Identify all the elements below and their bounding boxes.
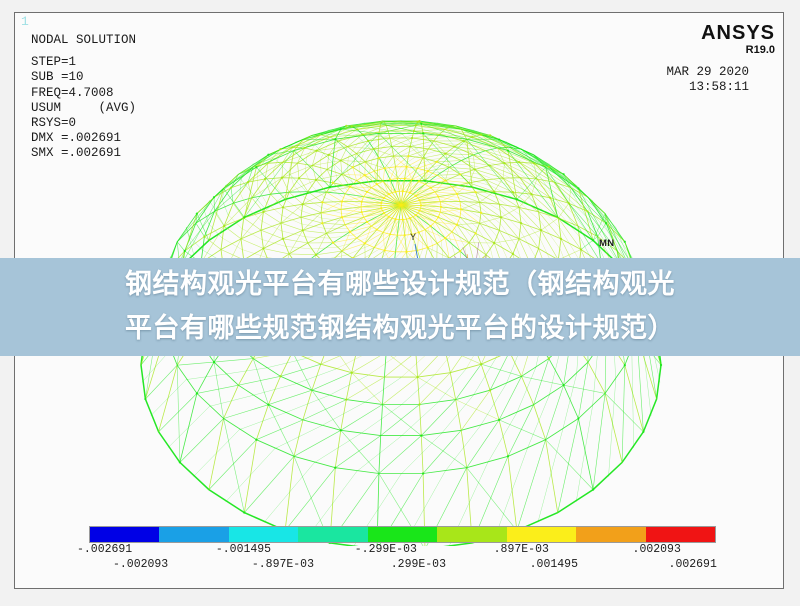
mesh-node xyxy=(562,384,564,386)
mesh-member xyxy=(299,178,308,192)
mesh-member xyxy=(383,405,422,436)
mesh-node xyxy=(243,216,245,218)
mesh-node xyxy=(380,207,382,209)
mesh-node xyxy=(361,211,363,213)
mesh-member xyxy=(494,239,519,243)
mesh-node xyxy=(660,364,662,366)
mesh-member xyxy=(321,213,342,217)
mesh-member xyxy=(522,155,560,177)
mesh-node xyxy=(281,177,283,179)
mesh-member xyxy=(420,373,451,405)
mesh-member xyxy=(262,239,286,246)
mesh-node xyxy=(498,419,500,421)
mesh-member xyxy=(508,405,534,457)
mesh-node xyxy=(418,209,420,211)
mesh-member xyxy=(455,228,465,247)
mesh-node xyxy=(389,233,391,235)
legend-color-bar xyxy=(89,526,716,543)
mesh-member xyxy=(343,198,361,205)
mesh-member xyxy=(622,365,625,462)
mesh-node xyxy=(267,404,269,406)
mesh-node xyxy=(213,361,215,363)
mesh-member xyxy=(296,369,336,384)
mesh-node xyxy=(462,140,464,142)
mesh-node xyxy=(264,178,266,180)
mesh-node xyxy=(471,136,473,138)
mesh-node xyxy=(444,152,446,154)
mesh-member xyxy=(461,390,490,430)
mesh-node xyxy=(507,149,509,151)
mesh-node xyxy=(383,167,385,169)
mesh-member xyxy=(303,400,346,420)
axis-label-y: Y xyxy=(410,232,416,242)
mesh-node xyxy=(409,217,411,219)
mesh-node xyxy=(459,173,461,175)
mesh-member xyxy=(225,177,239,185)
legend-label-top-3: .897E-03 xyxy=(494,543,549,556)
mesh-node xyxy=(196,212,198,214)
mesh-member xyxy=(303,230,327,233)
mesh-ring xyxy=(321,156,481,269)
mesh-member xyxy=(441,178,464,179)
watermark-banner: 钢结构观光平台有哪些设计规范（钢结构观光 平台有哪些规范钢结构观光平台的设计规范… xyxy=(0,258,800,356)
mesh-node xyxy=(407,155,409,157)
mesh-rib xyxy=(401,205,425,546)
mesh-member xyxy=(151,380,186,416)
mesh-node xyxy=(474,191,476,193)
mesh-node xyxy=(404,177,406,179)
mesh-member xyxy=(473,358,496,395)
mesh-node xyxy=(383,197,385,199)
mesh-member xyxy=(374,149,394,156)
mesh-node xyxy=(474,168,476,170)
mesh-node xyxy=(303,147,305,149)
mesh-node xyxy=(409,192,411,194)
mesh-member xyxy=(239,413,285,430)
mesh-node xyxy=(436,161,438,163)
mesh-node xyxy=(512,191,514,193)
legend-band-8 xyxy=(646,527,715,542)
mesh-member xyxy=(303,213,321,231)
mesh-member xyxy=(446,154,474,155)
mesh-node xyxy=(533,162,535,164)
mesh-member xyxy=(177,365,180,462)
mesh-node xyxy=(456,224,458,226)
mesh-member xyxy=(329,375,368,395)
mesh-node xyxy=(315,150,317,152)
mesh-node xyxy=(530,193,532,195)
mesh-member xyxy=(449,167,475,169)
mesh-member xyxy=(353,228,374,235)
mesh-member xyxy=(408,149,428,156)
mesh-member xyxy=(357,230,377,239)
mesh-member xyxy=(263,223,281,248)
legend-label-bottom-2: .299E-03 xyxy=(391,558,446,571)
mesh-member xyxy=(456,400,499,420)
mesh-node xyxy=(255,166,257,168)
mesh-node xyxy=(580,248,582,250)
mesh-node xyxy=(321,222,323,224)
legend-label-top-4: .002093 xyxy=(633,543,681,556)
mesh-member xyxy=(478,228,491,249)
mesh-node xyxy=(512,253,514,255)
mesh-member xyxy=(301,224,324,228)
mesh-node xyxy=(345,398,347,400)
mesh-member xyxy=(428,147,454,149)
mesh-member xyxy=(532,194,559,218)
legend-label-top-0: -.002691 xyxy=(77,543,132,556)
mesh-node xyxy=(361,201,363,203)
mesh-node xyxy=(334,138,336,140)
legend-label-bottom-4: .002691 xyxy=(669,558,717,571)
mesh-member xyxy=(186,374,225,380)
mesh-member xyxy=(546,385,564,440)
mesh-member xyxy=(194,430,240,477)
mesh-node xyxy=(493,242,495,244)
mesh-member xyxy=(383,168,384,181)
mesh-node xyxy=(184,250,186,252)
mesh-member xyxy=(445,181,469,183)
mesh-node xyxy=(349,186,351,188)
mesh-member xyxy=(197,214,209,241)
legend-label-bottom-3: .001495 xyxy=(530,558,578,571)
mesh-member xyxy=(268,390,312,405)
mesh-node xyxy=(389,178,391,180)
mesh-node xyxy=(420,434,422,436)
mesh-member xyxy=(265,179,271,194)
mesh-node xyxy=(247,181,249,183)
mesh-node xyxy=(366,221,368,223)
mesh-member xyxy=(488,413,517,463)
mesh-member xyxy=(435,192,457,194)
mesh-node xyxy=(489,164,491,166)
mesh-member xyxy=(241,239,263,249)
mesh-member xyxy=(538,430,563,523)
mesh-node xyxy=(291,146,293,148)
mesh-member xyxy=(379,436,421,474)
mesh-node xyxy=(404,234,406,236)
legend-label-top-1: -.001495 xyxy=(216,543,271,556)
mesh-node xyxy=(480,134,482,136)
mesh-member xyxy=(481,384,507,426)
mesh-member xyxy=(499,420,545,440)
mesh-node xyxy=(549,197,551,199)
mesh-member xyxy=(352,373,383,405)
mesh-node xyxy=(345,125,347,127)
mesh-member xyxy=(282,162,283,178)
mesh-member xyxy=(197,385,239,393)
legend-band-6 xyxy=(507,527,576,542)
mesh-node xyxy=(474,232,476,234)
mesh-member xyxy=(242,228,262,239)
mesh-member xyxy=(222,199,228,214)
mesh-member xyxy=(282,215,302,224)
mesh-node xyxy=(586,210,588,212)
mesh-node xyxy=(405,251,407,253)
mesh-node xyxy=(394,191,396,193)
mesh-node xyxy=(427,246,429,248)
legend-band-4 xyxy=(368,527,437,542)
mesh-member xyxy=(168,406,209,447)
legend-label-bottom-0: -.002093 xyxy=(113,558,168,571)
mesh-member xyxy=(361,178,370,190)
mesh-node xyxy=(592,488,594,490)
mesh-node xyxy=(262,247,264,249)
mesh-node xyxy=(279,375,281,377)
mesh-node xyxy=(383,249,385,251)
mesh-member xyxy=(335,436,380,468)
mesh-node xyxy=(418,180,420,182)
mesh-member xyxy=(244,456,294,512)
mesh-node xyxy=(429,225,431,227)
mesh-node xyxy=(388,193,390,195)
mesh-member xyxy=(485,151,519,163)
mesh-member xyxy=(314,434,360,463)
mesh-member xyxy=(361,207,381,208)
watermark-text: 钢结构观光平台有哪些设计规范（钢结构观光 平台有哪些规范钢结构观光平台的设计规范… xyxy=(35,263,765,351)
mesh-member xyxy=(244,218,261,230)
mesh-node xyxy=(203,235,205,237)
mesh-node xyxy=(380,202,382,204)
mesh-member xyxy=(632,350,634,447)
mesh-node xyxy=(351,125,353,127)
mesh-member xyxy=(481,364,521,376)
mesh-node xyxy=(332,242,334,244)
mesh-node xyxy=(507,455,509,457)
mesh-member xyxy=(226,449,275,502)
mesh-member xyxy=(517,440,546,531)
mesh-node xyxy=(341,200,343,202)
mesh-node xyxy=(213,196,215,198)
mesh-member xyxy=(350,217,364,232)
mesh-node xyxy=(372,148,374,150)
mesh-node xyxy=(321,201,323,203)
mesh-member xyxy=(268,405,294,457)
mesh-node xyxy=(548,357,550,359)
mesh-node xyxy=(460,208,462,210)
mesh-node xyxy=(415,124,417,126)
mesh-node xyxy=(302,229,304,231)
mesh-member xyxy=(180,419,224,463)
mesh-node xyxy=(642,431,644,433)
mesh-node xyxy=(422,472,424,474)
mesh-member xyxy=(437,151,464,152)
mesh-node xyxy=(332,182,334,184)
mesh-node xyxy=(388,216,390,218)
mesh-member xyxy=(460,174,486,180)
mesh-node xyxy=(340,128,342,130)
mesh-member xyxy=(289,254,316,255)
mesh-member xyxy=(283,207,301,217)
mesh-member xyxy=(417,232,418,250)
mesh-member xyxy=(214,362,224,418)
mesh-node xyxy=(402,190,404,192)
mesh-node xyxy=(518,161,520,163)
mesh-member xyxy=(578,362,588,418)
mesh-member xyxy=(541,218,558,230)
mesh-node xyxy=(409,145,411,147)
mesh-node xyxy=(415,214,417,216)
ansys-screenshot: 1 NODAL SOLUTIONSTEP=1 SUB =10 FREQ=4.70… xyxy=(0,0,800,606)
mesh-member xyxy=(415,173,432,180)
mesh-node xyxy=(349,231,351,233)
mesh-member xyxy=(501,224,517,247)
mesh-node xyxy=(255,439,257,441)
mesh-node xyxy=(328,154,330,156)
mesh-member xyxy=(541,230,558,260)
mesh-member xyxy=(609,380,616,477)
mesh-node xyxy=(383,212,385,214)
mesh-node xyxy=(605,222,607,224)
mesh-member xyxy=(301,217,322,223)
mesh-node xyxy=(223,225,225,227)
mesh-member xyxy=(253,147,292,167)
mesh-member xyxy=(253,384,296,396)
mesh-member xyxy=(569,203,598,236)
mesh-member xyxy=(383,377,418,404)
mesh-member xyxy=(256,420,303,440)
mesh-member xyxy=(420,200,441,201)
mesh-member xyxy=(215,211,225,226)
mesh-node xyxy=(420,204,422,206)
mesh-member xyxy=(558,419,579,513)
mesh-member xyxy=(449,235,455,255)
legend-label-top-2: -.299E-03 xyxy=(355,543,417,556)
legend-band-7 xyxy=(576,527,645,542)
mesh-node xyxy=(378,157,380,159)
mesh-node xyxy=(351,372,353,374)
mesh-member xyxy=(225,368,266,374)
mesh-node xyxy=(453,145,455,147)
mesh-node xyxy=(577,187,579,189)
mesh-member xyxy=(224,226,241,239)
contour-legend: -.002691-.001495-.299E-03.897E-03.002093… xyxy=(15,522,784,578)
mesh-node xyxy=(367,140,369,142)
mesh-member xyxy=(421,436,466,468)
mesh-member xyxy=(346,377,384,400)
mesh-node xyxy=(424,180,426,182)
mesh-member xyxy=(224,405,269,419)
mesh-member xyxy=(298,163,300,178)
mesh-member xyxy=(521,223,539,248)
mesh-node xyxy=(262,211,264,213)
mesh-member xyxy=(571,188,606,223)
mesh-node xyxy=(577,417,579,419)
mesh-node xyxy=(267,154,269,156)
mesh-node xyxy=(456,193,458,195)
mesh-member xyxy=(405,219,407,235)
mesh-member xyxy=(341,209,362,212)
mesh-node xyxy=(560,238,562,240)
mesh-member xyxy=(457,223,480,225)
legend-label-bottom-1: -.897E-03 xyxy=(252,558,314,571)
mesh-member xyxy=(353,154,357,168)
mesh-node xyxy=(411,137,413,139)
mesh-node xyxy=(592,239,594,241)
mesh-member xyxy=(473,155,475,170)
mesh-member xyxy=(282,166,312,178)
mesh-node xyxy=(480,363,482,365)
mesh-member xyxy=(481,135,521,149)
mesh-node xyxy=(418,403,420,405)
mesh-member xyxy=(423,430,461,473)
mesh-member xyxy=(247,208,262,221)
mesh-node xyxy=(282,238,284,240)
mesh-node xyxy=(429,187,431,189)
mesh-node xyxy=(498,138,500,140)
legend-band-3 xyxy=(298,527,367,542)
mesh-member xyxy=(341,405,383,431)
legend-band-5 xyxy=(437,527,506,542)
mesh-member xyxy=(341,161,342,175)
mesh-member xyxy=(353,184,365,195)
mesh-node xyxy=(366,191,368,193)
mesh-node xyxy=(340,429,342,431)
mesh-node xyxy=(279,148,281,150)
mesh-node xyxy=(444,179,446,181)
mesh-member xyxy=(261,230,283,239)
mesh-member xyxy=(263,249,289,254)
mesh-node xyxy=(516,198,518,200)
legend-band-0 xyxy=(90,527,159,542)
mesh-node xyxy=(418,199,420,201)
mesh-member xyxy=(421,400,455,436)
mesh-node xyxy=(437,216,439,218)
mesh-node xyxy=(243,511,245,513)
mesh-node xyxy=(362,133,364,135)
mesh-node xyxy=(420,123,422,125)
mesh-node xyxy=(440,206,442,208)
legend-band-1 xyxy=(159,527,228,542)
mesh-node xyxy=(356,128,358,130)
mesh-node xyxy=(624,364,626,366)
mesh-member xyxy=(312,373,352,391)
mesh-node xyxy=(364,174,366,176)
mesh-member xyxy=(490,352,509,390)
mesh-node xyxy=(459,250,461,252)
mesh-member xyxy=(499,376,521,420)
mesh-member xyxy=(422,231,423,249)
mesh-member xyxy=(264,463,314,523)
mesh-node xyxy=(329,186,331,188)
legend-tick-labels: -.002691-.001495-.299E-03.897E-03.002093… xyxy=(15,543,784,577)
mesh-member xyxy=(322,403,365,426)
mesh-node xyxy=(340,159,342,161)
mesh-member xyxy=(177,362,214,365)
mesh-node xyxy=(196,392,198,394)
mesh-node xyxy=(315,179,317,181)
mesh-member xyxy=(224,419,245,513)
mesh-member xyxy=(456,364,482,399)
mesh-node xyxy=(394,218,396,220)
mesh-member xyxy=(210,395,253,406)
mesh-member xyxy=(262,221,282,231)
mesh-member xyxy=(322,223,345,225)
mesh-member xyxy=(473,155,504,163)
mesh-node xyxy=(364,242,366,244)
mesh-member xyxy=(282,231,305,237)
mesh-member xyxy=(214,359,253,363)
mesh-node xyxy=(179,461,181,463)
mesh-node xyxy=(422,132,424,134)
mesh-node xyxy=(500,216,502,218)
mesh-node xyxy=(302,203,304,205)
mesh-member xyxy=(283,239,308,243)
mesh-node xyxy=(405,166,407,168)
mesh-member xyxy=(390,131,414,138)
mesh-node xyxy=(520,222,522,224)
mesh-member xyxy=(381,405,420,436)
